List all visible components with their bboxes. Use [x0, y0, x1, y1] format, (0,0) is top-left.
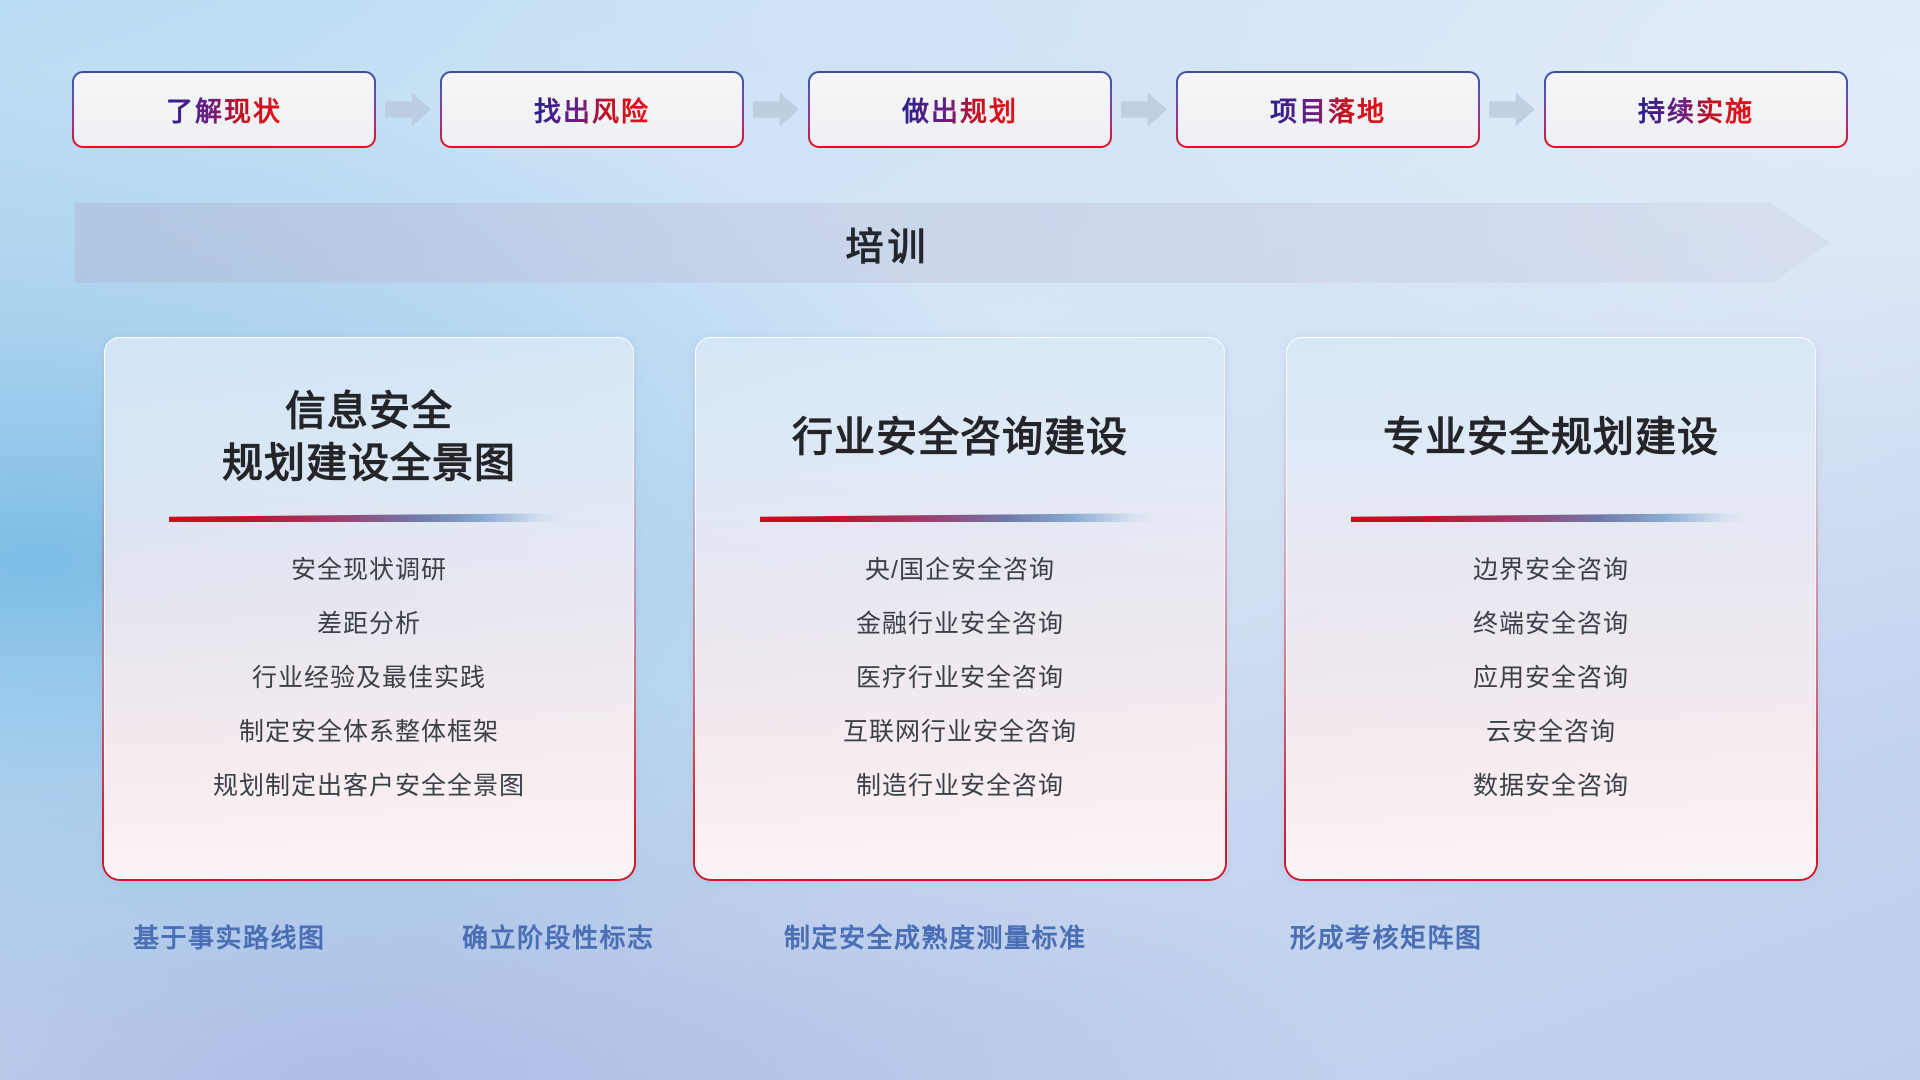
arrow-right-icon-0	[385, 93, 431, 127]
card-title-line1-1: 行业安全咨询建设	[725, 411, 1195, 463]
card-divider-0	[169, 513, 569, 522]
list-item: 云安全咨询	[1316, 720, 1786, 745]
training-banner: 培训	[75, 203, 1830, 283]
step-label-3: 项目落地	[1270, 90, 1386, 129]
card-title-0: 信息安全 规划建设全景图	[134, 383, 604, 491]
step-box-0[interactable]: 了解现状	[74, 73, 374, 146]
footer-label-2: 制定安全成熟度测量标准	[784, 918, 1087, 955]
list-item: 行业经验及最佳实践	[134, 666, 604, 691]
footer-label-3: 形成考核矩阵图	[1290, 918, 1483, 955]
step-label-1: 找出风险	[534, 90, 650, 129]
step-box-3[interactable]: 项目落地	[1178, 73, 1478, 146]
card-row: 信息安全 规划建设全景图 安全现状调研 差距分析 行业经验及最佳实践 制定安全体…	[0, 337, 1920, 879]
training-banner-title: 培训	[845, 216, 929, 271]
list-item: 数据安全咨询	[1316, 774, 1786, 799]
list-item: 应用安全咨询	[1316, 666, 1786, 691]
list-item: 制定安全体系整体框架	[134, 720, 604, 745]
card-0[interactable]: 信息安全 规划建设全景图 安全现状调研 差距分析 行业经验及最佳实践 制定安全体…	[104, 337, 634, 879]
footer-label-row: 基于事实路线图 确立阶段性标志 制定安全成熟度测量标准 形成考核矩阵图	[0, 918, 1920, 968]
card-divider-1	[760, 513, 1160, 522]
card-1[interactable]: 行业安全咨询建设 央/国企安全咨询 金融行业安全咨询 医疗行业安全咨询 互联网行…	[695, 337, 1225, 879]
card-2[interactable]: 专业安全规划建设 边界安全咨询 终端安全咨询 应用安全咨询 云安全咨询 数据安全…	[1286, 337, 1816, 879]
list-item: 医疗行业安全咨询	[725, 666, 1195, 691]
card-list-2: 边界安全咨询 终端安全咨询 应用安全咨询 云安全咨询 数据安全咨询	[1316, 558, 1786, 799]
card-divider-2	[1351, 513, 1751, 522]
list-item: 终端安全咨询	[1316, 612, 1786, 637]
step-label-4: 持续实施	[1638, 90, 1754, 129]
step-label-2: 做出规划	[902, 90, 1018, 129]
card-title-line1-0: 信息安全	[134, 385, 604, 437]
card-list-0: 安全现状调研 差距分析 行业经验及最佳实践 制定安全体系整体框架 规划制定出客户…	[134, 558, 604, 799]
list-item: 规划制定出客户安全全景图	[134, 774, 604, 799]
list-item: 边界安全咨询	[1316, 558, 1786, 583]
list-item: 金融行业安全咨询	[725, 612, 1195, 637]
card-title-2: 专业安全规划建设	[1316, 383, 1786, 491]
card-list-1: 央/国企安全咨询 金融行业安全咨询 医疗行业安全咨询 互联网行业安全咨询 制造行…	[725, 558, 1195, 799]
step-box-2[interactable]: 做出规划	[810, 73, 1110, 146]
card-title-1: 行业安全咨询建设	[725, 383, 1195, 491]
card-title-line2-0: 规划建设全景图	[134, 437, 604, 489]
list-item: 央/国企安全咨询	[725, 558, 1195, 583]
list-item: 制造行业安全咨询	[725, 774, 1195, 799]
list-item: 安全现状调研	[134, 558, 604, 583]
arrow-right-icon-3	[1489, 93, 1535, 127]
arrow-right-icon-2	[1121, 93, 1167, 127]
step-label-0: 了解现状	[166, 90, 282, 129]
step-box-4[interactable]: 持续实施	[1546, 73, 1846, 146]
step-box-1[interactable]: 找出风险	[442, 73, 742, 146]
list-item: 互联网行业安全咨询	[725, 720, 1195, 745]
footer-label-1: 确立阶段性标志	[462, 918, 655, 955]
footer-label-0: 基于事实路线图	[133, 918, 326, 955]
arrow-right-icon-1	[753, 93, 799, 127]
card-title-line1-2: 专业安全规划建设	[1316, 411, 1786, 463]
process-step-row: 了解现状 找出风险 做出规划 项目落地 持续实施	[0, 73, 1920, 146]
list-item: 差距分析	[134, 612, 604, 637]
